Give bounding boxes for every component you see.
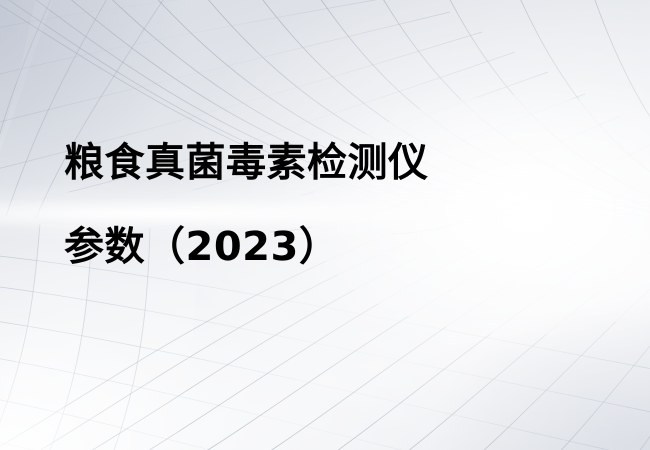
title-line-secondary: 参数（2023） <box>64 224 604 271</box>
title-slide: 粮食真菌毒素检测仪 参数（2023） <box>0 0 650 450</box>
title-line-primary: 粮食真菌毒素检测仪 <box>64 140 604 187</box>
page-title: 粮食真菌毒素检测仪 参数（2023） <box>64 140 604 271</box>
